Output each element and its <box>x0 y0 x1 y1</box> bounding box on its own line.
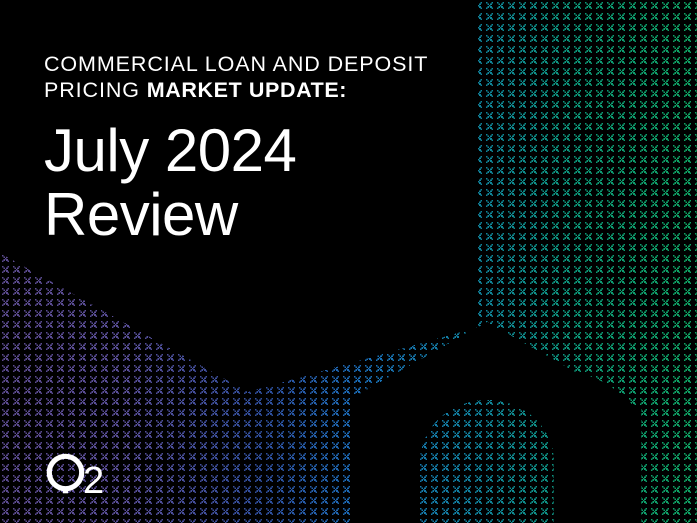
headline-line-1: July 2024 <box>44 121 428 181</box>
kicker-line-2: PRICING MARKET UPDATE: <box>44 78 428 104</box>
title-text-block: COMMERCIAL LOAN AND DEPOSIT PRICING MARK… <box>44 52 428 245</box>
kicker-line-2-light: PRICING <box>44 78 147 102</box>
q2-logo-circle <box>49 456 81 488</box>
headline-line-2: Review <box>44 185 428 245</box>
title-slide: COMMERCIAL LOAN AND DEPOSIT PRICING MARK… <box>0 0 697 523</box>
kicker-line-1: COMMERCIAL LOAN AND DEPOSIT <box>44 52 428 78</box>
q2-logo: 2 <box>45 452 115 496</box>
kicker-line-2-bold: MARKET UPDATE: <box>147 78 347 102</box>
q2-logo-numeral: 2 <box>83 460 104 496</box>
